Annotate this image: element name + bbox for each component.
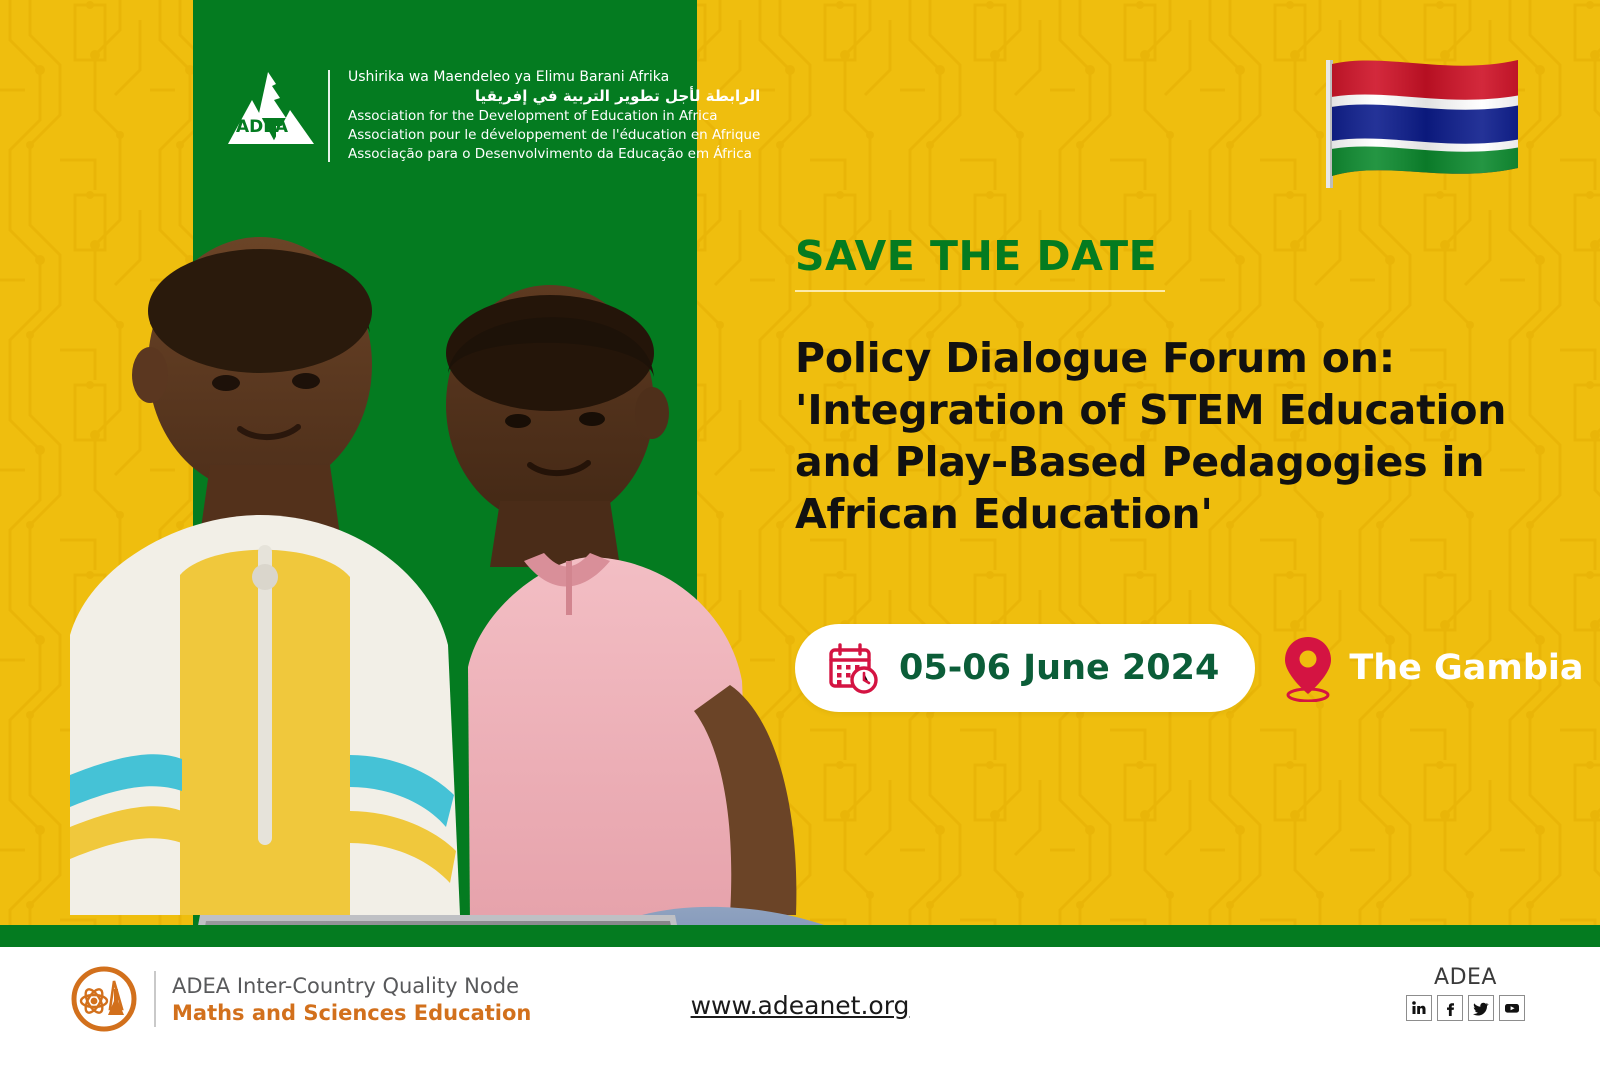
facebook-icon[interactable] <box>1437 995 1463 1021</box>
save-the-date-eyebrow: SAVE THE DATE <box>795 232 1535 280</box>
tagline-english: Association for the Development of Educa… <box>348 108 760 126</box>
linkedin-icon[interactable] <box>1406 995 1432 1021</box>
social-icon-row <box>1406 995 1525 1021</box>
calendar-clock-icon <box>827 642 879 694</box>
tagline-swahili: Ushirika wa Maendeleo ya Elimu Barani Af… <box>348 68 760 86</box>
social-group-label: ADEA <box>1434 965 1497 990</box>
event-location-text: The Gambia <box>1349 648 1583 688</box>
svg-text:ADEA: ADEA <box>236 117 289 137</box>
tagline-french: Association pour le développement de l'é… <box>348 127 760 145</box>
event-location-group: The Gambia <box>1283 634 1583 702</box>
poster-footer: ADEA Inter-Country Quality Node Maths an… <box>0 947 1600 1067</box>
forum-title-line-4: African Education' <box>795 488 1535 540</box>
green-divider-bar <box>0 925 1600 947</box>
adea-logo: ADEA Ushirika wa Maendeleo ya Elimu Bara… <box>228 68 760 164</box>
forum-title: Policy Dialogue Forum on: 'Integration o… <box>795 332 1535 540</box>
tagline-arabic: الرابطة لأجل تطوير التربية في إفريقيا <box>348 87 760 107</box>
forum-title-line-1: Policy Dialogue Forum on: <box>795 332 1535 384</box>
event-date-text: 05-06 June 2024 <box>899 648 1219 688</box>
save-the-date-poster: ADEA Ushirika wa Maendeleo ya Elimu Bara… <box>0 0 1600 1067</box>
event-meta-row: 05-06 June 2024 The Gambia <box>795 624 1584 712</box>
forum-title-line-3: and Play-Based Pedagogies in <box>795 436 1535 488</box>
adea-taglines: Ushirika wa Maendeleo ya Elimu Barani Af… <box>344 68 760 164</box>
tagline-portuguese: Associação para o Desenvolvimento da Edu… <box>348 146 760 164</box>
children-with-laptop-photo <box>30 215 860 925</box>
twitter-icon[interactable] <box>1468 995 1494 1021</box>
website-url-link[interactable]: www.adeanet.org <box>0 991 1600 1020</box>
event-date-badge: 05-06 June 2024 <box>795 624 1255 712</box>
youtube-icon[interactable] <box>1499 995 1525 1021</box>
logo-divider <box>328 70 330 162</box>
location-pin-icon <box>1283 634 1333 702</box>
forum-title-line-2: 'Integration of STEM Education <box>795 384 1535 436</box>
eyebrow-underline <box>795 290 1165 292</box>
social-links-group: ADEA <box>1406 965 1525 1021</box>
adea-mark-icon: ADEA <box>228 70 314 162</box>
announcement-block: SAVE THE DATE Policy Dialogue Forum on: … <box>795 232 1535 540</box>
gambia-flag-icon <box>1306 50 1526 195</box>
